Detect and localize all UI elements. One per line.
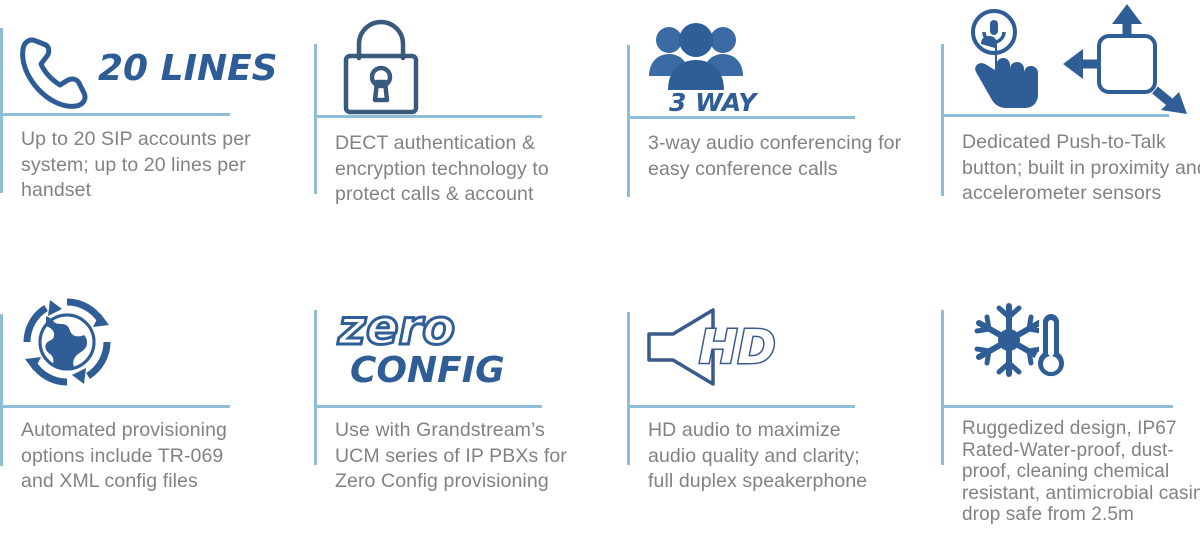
speaker-hd-icon: HD [643,308,823,388]
divider-horizontal [314,405,542,408]
badge-label: 3 WAY [669,88,759,117]
feature-caption: Use with Grandstream’s UCM series of IP … [335,418,583,495]
accent-rule-vertical [941,44,944,196]
divider-horizontal [627,405,855,408]
feature-caption: Automated provisioning options include T… [21,418,261,495]
globe-refresh-icon [12,292,132,392]
badge-label: HD [699,320,776,374]
feature-card-lines: 20 LINES Up to 20 SIP accounts per syste… [0,0,300,270]
three-people-icon: 3 WAY [647,14,797,114]
feature-card-push-to-talk: Dedicated Push-to-Talk button; built in … [941,0,1200,270]
feature-caption: HD audio to maximize audio quality and c… [648,418,884,495]
badge-label: 20 LINES [98,48,278,89]
divider-horizontal [941,114,1169,117]
feature-grid: 20 LINES Up to 20 SIP accounts per syste… [0,0,1200,540]
divider-horizontal [314,115,542,118]
accent-rule-vertical [314,44,317,194]
feature-card-provisioning: Automated provisioning options include T… [0,270,300,540]
accent-rule-vertical [627,312,630,465]
feature-caption: Ruggedized design, IP67 Rated-Water-proo… [962,418,1200,526]
feature-caption: Up to 20 SIP accounts per system; up to … [21,127,279,204]
feature-card-hd-audio: HD HD audio to maximize audio quality an… [627,270,927,540]
config-wordmark: CONFIG [350,350,505,391]
zero-config-logo-icon: zero CONFIG [336,302,556,394]
zero-wordmark: zero [337,300,455,356]
feature-card-security: DECT authentication & encryption technol… [314,0,614,270]
hand-press-microphone-icon [959,4,1200,114]
accent-rule-vertical [627,45,630,197]
accent-rule-vertical [941,310,944,465]
divider-horizontal [0,113,230,116]
feature-card-zero-config: zero CONFIG Use with Grandstream’s UCM s… [314,270,614,540]
accent-rule-vertical [0,28,3,193]
feature-caption: 3-way audio conferencing for easy confer… [648,131,904,182]
feature-card-ruggedized: Ruggedized design, IP67 Rated-Water-proo… [941,270,1200,540]
padlock-icon [334,12,444,112]
divider-horizontal [0,405,230,408]
divider-horizontal [941,405,1173,408]
snowflake-thermometer-icon [971,300,1081,385]
feature-caption: DECT authentication & encryption technol… [335,131,575,208]
phone-handset-icon: 20 LINES [16,28,286,108]
accent-rule-vertical [0,314,3,466]
accent-rule-vertical [314,310,317,465]
feature-caption: Dedicated Push-to-Talk button; built in … [962,130,1200,207]
feature-card-conference: 3 WAY 3-way audio conferencing for easy … [627,0,927,270]
